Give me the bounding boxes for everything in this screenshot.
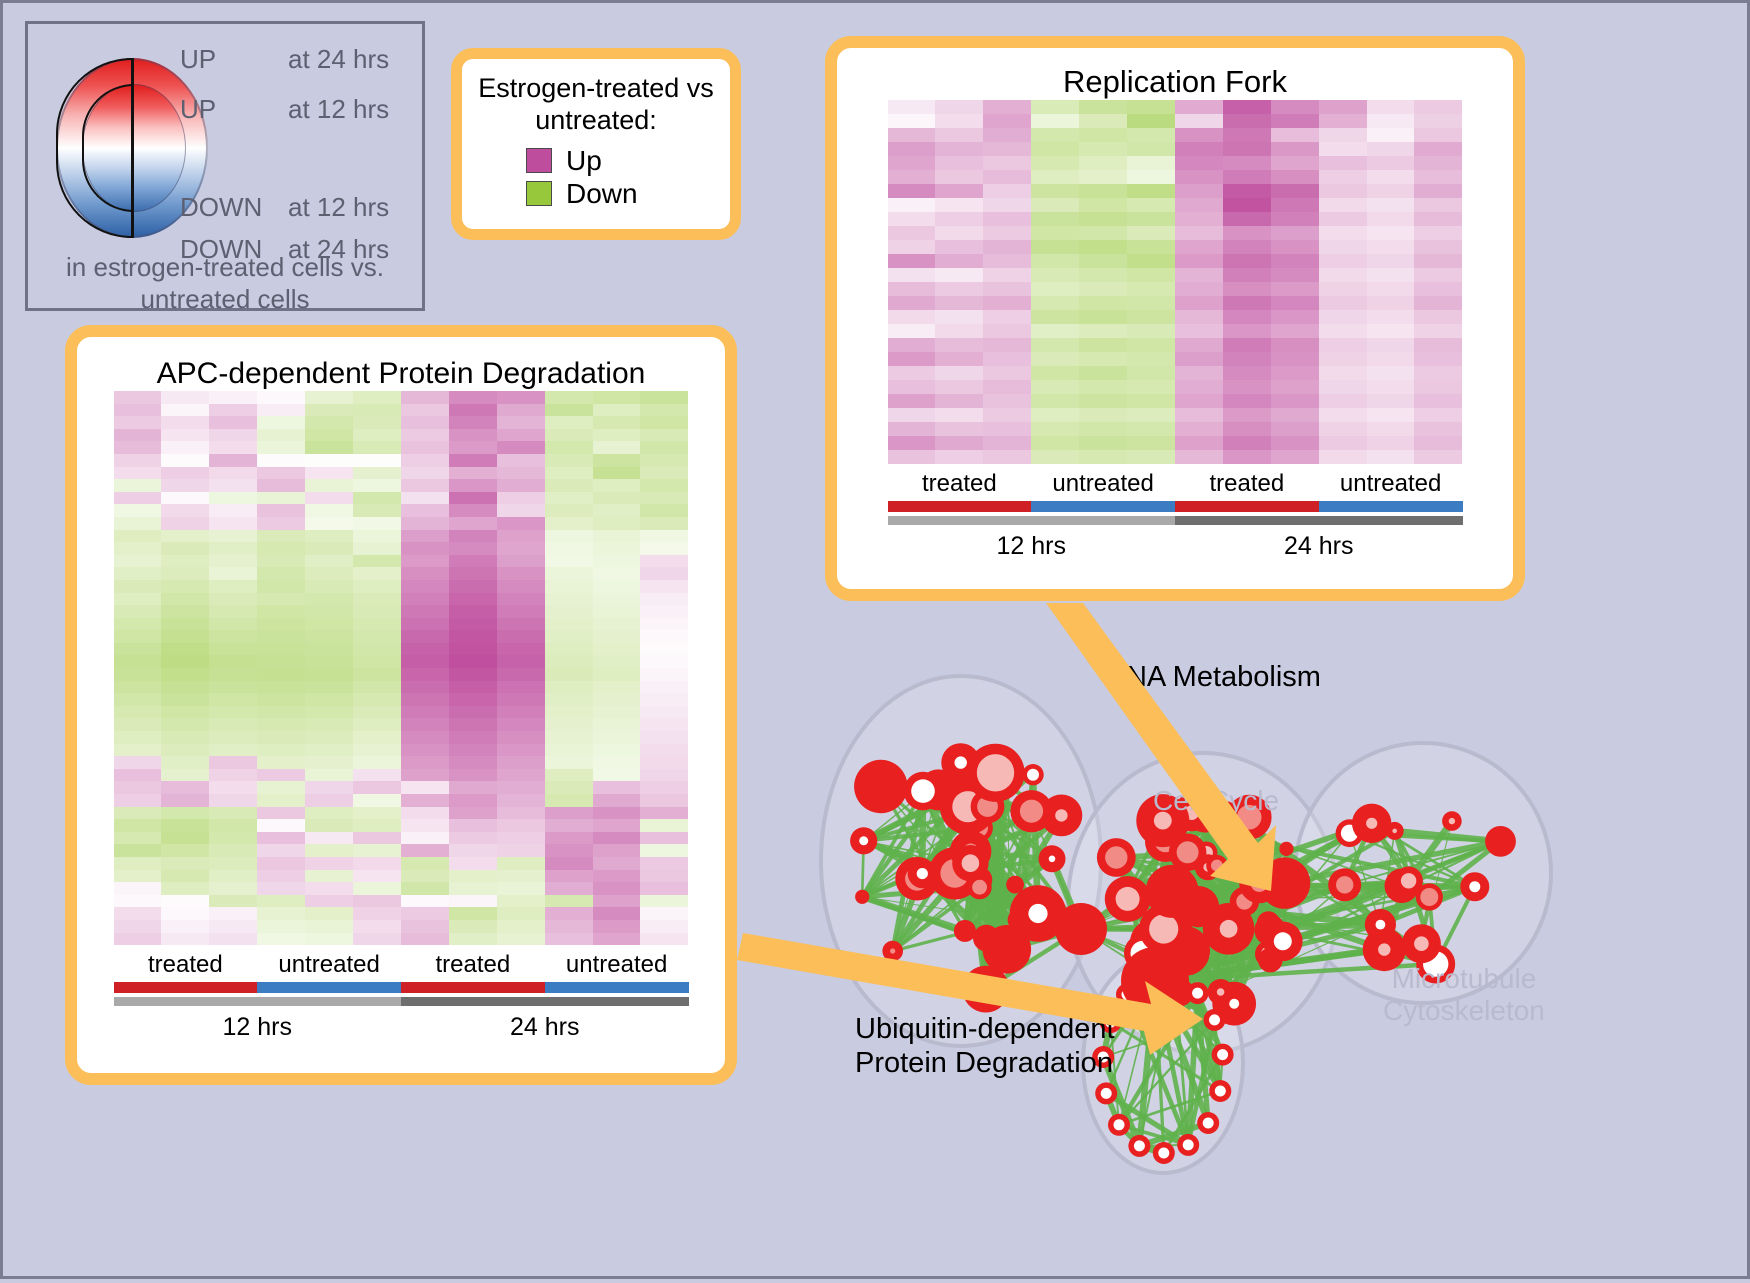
heatmap-cell bbox=[353, 933, 401, 946]
heatmap-cell bbox=[161, 870, 209, 883]
heatmap-cell bbox=[1271, 142, 1319, 156]
heatmap-cell bbox=[209, 844, 257, 857]
heatmap-cell bbox=[983, 394, 1031, 408]
heatmap-cell bbox=[983, 226, 1031, 240]
heatmap-cell bbox=[1175, 394, 1223, 408]
heatmap-cell bbox=[1079, 352, 1127, 366]
heatmap-cell bbox=[257, 542, 305, 555]
heatmap-cell bbox=[161, 895, 209, 908]
heatmap-cell bbox=[497, 567, 545, 580]
heatmap-cell bbox=[497, 593, 545, 606]
heatmap-cell bbox=[114, 504, 162, 517]
heatmap-column bbox=[497, 391, 545, 945]
heatmap-cell bbox=[1223, 380, 1271, 394]
heatmap-cell bbox=[1271, 366, 1319, 380]
network-node-inner-circle bbox=[890, 948, 895, 953]
heatmap-apc bbox=[114, 391, 689, 945]
heatmap-cell bbox=[305, 857, 353, 870]
heatmap-cell bbox=[888, 282, 936, 296]
heatmap-column bbox=[305, 391, 353, 945]
heatmap-cell bbox=[449, 769, 497, 782]
network-node-inner-circle bbox=[1203, 1118, 1214, 1129]
heatmap-cell bbox=[1079, 394, 1127, 408]
heatmap-cell bbox=[305, 643, 353, 656]
heatmap-cell bbox=[401, 920, 449, 933]
heatmap-cell bbox=[305, 504, 353, 517]
heatmap-cell bbox=[114, 895, 162, 908]
network-node-outer-ring[interactable] bbox=[855, 890, 869, 904]
heatmap-cell bbox=[114, 668, 162, 681]
heatmap-cell bbox=[401, 807, 449, 820]
heatmap-cell bbox=[257, 807, 305, 820]
heatmap-cell bbox=[497, 630, 545, 643]
heatmap-cell bbox=[449, 429, 497, 442]
heatmap-cell bbox=[1414, 254, 1462, 268]
timepoint-color-bars bbox=[888, 516, 1463, 525]
network-node-outer-ring[interactable] bbox=[854, 760, 907, 813]
heatmap-cell bbox=[1271, 212, 1319, 226]
heatmap-cell bbox=[114, 794, 162, 807]
heatmap-cell bbox=[1031, 408, 1079, 422]
heatmap-cell bbox=[1079, 366, 1127, 380]
heatmap-cell bbox=[114, 756, 162, 769]
heatmap-cell bbox=[1031, 100, 1079, 114]
panel-replication-fork: Replication Fork treated untreated treat… bbox=[825, 36, 1525, 601]
heatmap-cell bbox=[497, 429, 545, 442]
heatmap-cell bbox=[257, 857, 305, 870]
group-bar-untreated-24 bbox=[545, 982, 689, 993]
heatmap-cell bbox=[545, 605, 593, 618]
heatmap-column bbox=[114, 391, 162, 945]
heatmap-cell bbox=[161, 555, 209, 568]
heatmap-cell bbox=[305, 933, 353, 946]
heatmap-cell bbox=[209, 857, 257, 870]
heatmap-cell bbox=[593, 441, 641, 454]
heatmap-cell bbox=[1414, 100, 1462, 114]
network-node-outer-ring[interactable] bbox=[1485, 826, 1516, 857]
heatmap-cell bbox=[353, 744, 401, 757]
network-node-outer-ring[interactable] bbox=[1121, 947, 1189, 1015]
heatmap-cell bbox=[401, 907, 449, 920]
network-node-inner-circle bbox=[1378, 943, 1390, 955]
heatmap-cell bbox=[1271, 156, 1319, 170]
heatmap-cell bbox=[497, 643, 545, 656]
heatmap-cell bbox=[257, 819, 305, 832]
heatmap-cell bbox=[401, 580, 449, 593]
heatmap-cell bbox=[640, 643, 688, 656]
heatmap-cell bbox=[1223, 282, 1271, 296]
heatmap-cell bbox=[545, 706, 593, 719]
heatmap-cell bbox=[449, 693, 497, 706]
heatmap-cell bbox=[1367, 422, 1415, 436]
heatmap-cell bbox=[209, 781, 257, 794]
heatmap-column bbox=[1319, 100, 1367, 464]
heatmap-cell bbox=[640, 467, 688, 480]
heatmap-cell bbox=[401, 618, 449, 631]
heatmap-cell bbox=[1367, 212, 1415, 226]
heatmap-cell bbox=[593, 391, 641, 404]
heatmap-cell bbox=[209, 517, 257, 530]
heatmap-cell bbox=[1414, 436, 1462, 450]
heatmap-cell bbox=[497, 681, 545, 694]
heatmap-cell bbox=[1367, 226, 1415, 240]
heatmap-cell bbox=[209, 807, 257, 820]
heatmap-cell bbox=[1223, 450, 1271, 464]
heatmap-cell bbox=[1127, 324, 1175, 338]
heatmap-cell bbox=[640, 882, 688, 895]
network-node-outer-ring[interactable] bbox=[1146, 865, 1199, 918]
heatmap-cell bbox=[257, 769, 305, 782]
group-label: treated bbox=[888, 464, 1032, 501]
heatmap-cell bbox=[161, 693, 209, 706]
heatmap-cell bbox=[545, 630, 593, 643]
heatmap-cell bbox=[935, 366, 983, 380]
heatmap-cell bbox=[1031, 156, 1079, 170]
heatmap-cell bbox=[114, 706, 162, 719]
heatmap-cell bbox=[545, 756, 593, 769]
heatmap-cell bbox=[1127, 366, 1175, 380]
heatmap-cell bbox=[305, 895, 353, 908]
heatmap-cell bbox=[305, 731, 353, 744]
network-node-outer-ring[interactable] bbox=[973, 925, 1000, 952]
heatmap-cell bbox=[1367, 100, 1415, 114]
heatmap-cell bbox=[983, 128, 1031, 142]
heatmap-cell bbox=[1367, 436, 1415, 450]
heatmap-cell bbox=[497, 492, 545, 505]
heatmap-cell bbox=[401, 441, 449, 454]
heatmap-cell bbox=[545, 618, 593, 631]
heatmap-cell bbox=[161, 857, 209, 870]
heatmap-cell bbox=[1367, 408, 1415, 422]
heatmap-cell bbox=[161, 807, 209, 820]
heatmap-cell bbox=[1223, 198, 1271, 212]
heatmap-cell bbox=[401, 630, 449, 643]
heatmap-cell bbox=[257, 718, 305, 731]
heatmap-axis-apc: treated untreated treated untreated 12 h… bbox=[114, 945, 689, 1042]
heatmap-cell bbox=[640, 756, 688, 769]
heatmap-cell bbox=[1127, 352, 1175, 366]
heatmap-cell bbox=[1414, 142, 1462, 156]
heatmap-cell bbox=[640, 769, 688, 782]
heatmap-cell bbox=[305, 655, 353, 668]
heatmap-cell bbox=[257, 781, 305, 794]
heatmap-cell bbox=[305, 467, 353, 480]
heatmap-cell bbox=[257, 504, 305, 517]
heatmap-cell bbox=[114, 882, 162, 895]
heatmap-cell bbox=[401, 819, 449, 832]
heatmap-cell bbox=[1223, 352, 1271, 366]
heatmap-cell bbox=[983, 184, 1031, 198]
heatmap-cell bbox=[449, 605, 497, 618]
heatmap-cell bbox=[114, 819, 162, 832]
heatmap-cell bbox=[1079, 408, 1127, 422]
heatmap-cell bbox=[401, 769, 449, 782]
heatmap-cell bbox=[209, 429, 257, 442]
heatmap-cell bbox=[1127, 408, 1175, 422]
heatmap-cell bbox=[593, 668, 641, 681]
heatmap-cell bbox=[209, 681, 257, 694]
heatmap-cell bbox=[593, 555, 641, 568]
heatmap-cell bbox=[449, 718, 497, 731]
heatmap-cell bbox=[209, 441, 257, 454]
heatmap-cell bbox=[1223, 366, 1271, 380]
heatmap-cell bbox=[888, 422, 936, 436]
heatmap-cell bbox=[1079, 254, 1127, 268]
network-node-inner-circle bbox=[1401, 873, 1416, 888]
heatmap-cell bbox=[449, 517, 497, 530]
heatmap-cell bbox=[401, 555, 449, 568]
heatmap-cell bbox=[257, 832, 305, 845]
network-node-inner-circle bbox=[1392, 829, 1397, 834]
heatmap-cell bbox=[1031, 324, 1079, 338]
network-node-inner-circle bbox=[1105, 846, 1127, 868]
heatmap-cell bbox=[161, 630, 209, 643]
timepoint-labels: 12 hrs 24 hrs bbox=[114, 1006, 689, 1042]
heatmap-cell bbox=[1414, 352, 1462, 366]
heatmap-cell bbox=[353, 870, 401, 883]
heatmap-cell bbox=[545, 870, 593, 883]
heatmap-cell bbox=[1319, 436, 1367, 450]
heatmap-cell bbox=[305, 920, 353, 933]
heatmap-cell bbox=[545, 668, 593, 681]
network-node-inner-circle bbox=[1336, 876, 1353, 893]
heatmap-cell bbox=[545, 643, 593, 656]
heatmap-cell bbox=[888, 380, 936, 394]
heatmap-cell bbox=[1031, 282, 1079, 296]
heatmap-cell bbox=[257, 668, 305, 681]
heatmap-cell bbox=[640, 655, 688, 668]
heatmap-cell bbox=[449, 416, 497, 429]
heatmap-cell bbox=[353, 895, 401, 908]
heatmap-cell bbox=[1175, 156, 1223, 170]
heatmap-cell bbox=[1127, 380, 1175, 394]
network-node-inner-circle bbox=[859, 836, 868, 845]
heatmap-cell bbox=[497, 907, 545, 920]
group-label: untreated bbox=[545, 945, 689, 982]
heatmap-cell bbox=[449, 580, 497, 593]
heatmap-cell bbox=[1175, 170, 1223, 184]
group-label: treated bbox=[401, 945, 545, 982]
heatmap-cell bbox=[983, 198, 1031, 212]
heatmap-cell bbox=[1367, 380, 1415, 394]
heatmap-cell bbox=[640, 857, 688, 870]
heatmap-cell bbox=[209, 693, 257, 706]
heatmap-column bbox=[257, 391, 305, 945]
network-node-outer-ring[interactable] bbox=[954, 920, 976, 942]
heatmap-cell bbox=[401, 504, 449, 517]
heatmap-cell bbox=[1367, 254, 1415, 268]
color-key-label: Down bbox=[566, 178, 638, 210]
heatmap-cell bbox=[1031, 184, 1079, 198]
heatmap-cell bbox=[545, 769, 593, 782]
heatmap-cell bbox=[449, 756, 497, 769]
heatmap-cell bbox=[114, 580, 162, 593]
heatmap-cell bbox=[353, 504, 401, 517]
cluster-label-ubiquitin-dependent-protein-degradation: Ubiquitin-dependent Protein Degradation bbox=[855, 1013, 1115, 1080]
heatmap-cell bbox=[888, 296, 936, 310]
heatmap-cell bbox=[161, 655, 209, 668]
heatmap-cell bbox=[1127, 226, 1175, 240]
heatmap-cell bbox=[1271, 170, 1319, 184]
group-color-bars bbox=[888, 501, 1463, 512]
network-node-outer-ring[interactable] bbox=[1258, 948, 1283, 973]
heatmap-cell bbox=[1319, 254, 1367, 268]
heatmap-cell bbox=[1367, 156, 1415, 170]
heatmap-cell bbox=[640, 555, 688, 568]
heatmap-cell bbox=[353, 618, 401, 631]
color-key-items: Up Down bbox=[462, 145, 730, 210]
heatmap-cell bbox=[1367, 310, 1415, 324]
heatmap-cell bbox=[1127, 268, 1175, 282]
heatmap-cell bbox=[888, 366, 936, 380]
heatmap-cell bbox=[1031, 198, 1079, 212]
heatmap-cell bbox=[449, 895, 497, 908]
heatmap-cell bbox=[1414, 380, 1462, 394]
network-node-outer-ring[interactable] bbox=[1055, 903, 1107, 955]
heatmap-cell bbox=[497, 605, 545, 618]
heatmap-cell bbox=[1079, 268, 1127, 282]
network-node-outer-ring[interactable] bbox=[1279, 842, 1293, 856]
heatmap-cell bbox=[161, 769, 209, 782]
heatmap-cell bbox=[305, 479, 353, 492]
heatmap-column bbox=[1175, 100, 1223, 464]
heatmap-cell bbox=[593, 416, 641, 429]
legend-direction: UP bbox=[180, 46, 288, 72]
heatmap-cell bbox=[114, 731, 162, 744]
heatmap-cell bbox=[449, 655, 497, 668]
heatmap-cell bbox=[935, 198, 983, 212]
heatmap-cell bbox=[640, 832, 688, 845]
heatmap-cell bbox=[983, 268, 1031, 282]
heatmap-cell bbox=[1414, 296, 1462, 310]
heatmap-cell bbox=[1031, 226, 1079, 240]
heatmap-cell bbox=[983, 254, 1031, 268]
swatch-up bbox=[526, 148, 552, 173]
heatmap-cell bbox=[640, 593, 688, 606]
heatmap-cell bbox=[640, 605, 688, 618]
heatmap-column bbox=[640, 391, 688, 945]
legend-timepoint: at 24 hrs bbox=[288, 46, 389, 72]
heatmap-cell bbox=[449, 781, 497, 794]
heatmap-cell bbox=[935, 338, 983, 352]
heatmap-cell bbox=[257, 580, 305, 593]
heatmap-cell bbox=[640, 706, 688, 719]
network-node-inner-circle bbox=[1414, 936, 1429, 951]
circle-legend-rows: UP at 24 hrs UP at 12 hrs DOWN at 12 hrs… bbox=[180, 46, 416, 262]
heatmap-cell bbox=[114, 781, 162, 794]
heatmap-cell bbox=[888, 100, 936, 114]
heatmap-cell bbox=[1319, 240, 1367, 254]
heatmap-cell bbox=[1414, 394, 1462, 408]
heatmap-cell bbox=[305, 530, 353, 543]
heatmap-cell bbox=[353, 542, 401, 555]
network-node-inner-circle bbox=[1116, 887, 1140, 911]
heatmap-cell bbox=[114, 404, 162, 417]
heatmap-cell bbox=[209, 580, 257, 593]
heatmap-cell bbox=[401, 429, 449, 442]
heatmap-cell bbox=[497, 693, 545, 706]
heatmap-cell bbox=[209, 668, 257, 681]
heatmap-cell bbox=[935, 268, 983, 282]
heatmap-cell bbox=[1175, 212, 1223, 226]
heatmap-cell bbox=[1127, 128, 1175, 142]
heatmap-cell bbox=[545, 429, 593, 442]
heatmap-cell bbox=[497, 857, 545, 870]
heatmap-cell bbox=[640, 807, 688, 820]
group-label: treated bbox=[114, 945, 258, 982]
heatmap-cell bbox=[1414, 338, 1462, 352]
heatmap-cell bbox=[449, 567, 497, 580]
heatmap-cell bbox=[353, 920, 401, 933]
heatmap-cell bbox=[1031, 394, 1079, 408]
heatmap-cell bbox=[161, 933, 209, 946]
heatmap-cell bbox=[1127, 114, 1175, 128]
heatmap-column bbox=[1031, 100, 1079, 464]
heatmap-cell bbox=[161, 794, 209, 807]
heatmap-cell bbox=[593, 794, 641, 807]
heatmap-cell bbox=[353, 781, 401, 794]
heatmap-cell bbox=[983, 436, 1031, 450]
legend-timepoint: at 12 hrs bbox=[288, 194, 389, 220]
heatmap-cell bbox=[1175, 268, 1223, 282]
heatmap-cell bbox=[1223, 240, 1271, 254]
heatmap-cell bbox=[1319, 408, 1367, 422]
group-bar-untreated-12 bbox=[1031, 501, 1175, 512]
heatmap-cell bbox=[114, 807, 162, 820]
heatmap-cell bbox=[935, 184, 983, 198]
heatmap-cell bbox=[593, 718, 641, 731]
heatmap-cell bbox=[640, 794, 688, 807]
heatmap-cell bbox=[1367, 142, 1415, 156]
heatmap-cell bbox=[1367, 170, 1415, 184]
heatmap-cell bbox=[114, 655, 162, 668]
network-node-inner-circle bbox=[1055, 809, 1067, 821]
heatmap-cell bbox=[1175, 310, 1223, 324]
heatmap-cell bbox=[305, 832, 353, 845]
legend-row: UP at 12 hrs bbox=[180, 96, 416, 122]
heatmap-cell bbox=[401, 643, 449, 656]
heatmap-cell bbox=[161, 580, 209, 593]
heatmap-cell bbox=[305, 593, 353, 606]
heatmap-cell bbox=[114, 907, 162, 920]
heatmap-cell bbox=[1271, 254, 1319, 268]
heatmap-cell bbox=[161, 832, 209, 845]
heatmap-cell bbox=[161, 593, 209, 606]
heatmap-cell bbox=[593, 819, 641, 832]
heatmap-cell bbox=[640, 870, 688, 883]
heatmap-column bbox=[983, 100, 1031, 464]
heatmap-cell bbox=[401, 668, 449, 681]
swatch-down bbox=[526, 181, 552, 206]
heatmap-cell bbox=[305, 744, 353, 757]
heatmap-cell bbox=[114, 933, 162, 946]
heatmap-cell bbox=[888, 310, 936, 324]
heatmap-cell bbox=[353, 605, 401, 618]
heatmap-cell bbox=[1223, 156, 1271, 170]
heatmap-cell bbox=[888, 324, 936, 338]
heatmap-cell bbox=[545, 416, 593, 429]
heatmap-cell bbox=[209, 467, 257, 480]
heatmap-cell bbox=[1319, 128, 1367, 142]
heatmap-cell bbox=[497, 920, 545, 933]
heatmap-cell bbox=[1175, 366, 1223, 380]
heatmap-cell bbox=[114, 492, 162, 505]
heatmap-cell bbox=[114, 857, 162, 870]
heatmap-cell bbox=[593, 530, 641, 543]
heatmap-cell bbox=[593, 567, 641, 580]
heatmap-cell bbox=[640, 920, 688, 933]
heatmap-cell bbox=[1319, 422, 1367, 436]
